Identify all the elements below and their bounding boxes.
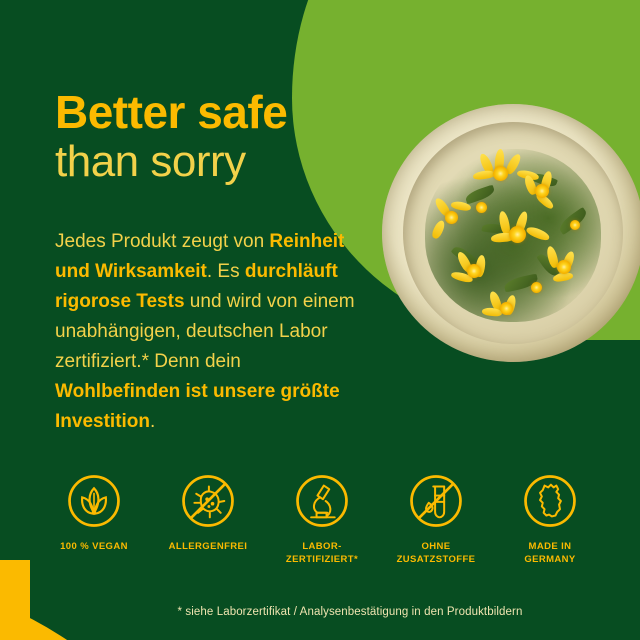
headline-line-1: Better safe: [55, 88, 385, 137]
bowl-interior: [403, 122, 623, 344]
badge-label: OHNE ZUSATZSTOFFE: [397, 540, 476, 566]
trust-badge-row: 100 % VEGAN ALLERGENFREI: [42, 472, 602, 566]
no-additives-icon: [407, 472, 465, 530]
badge-lab-certified[interactable]: LABOR- ZERTIFIZIERT*: [270, 472, 374, 566]
body-emphasis: Wohlbefinden ist unsere größte Investiti…: [55, 381, 340, 432]
bowl-shape: [382, 104, 640, 362]
footnote-text: * siehe Laborzertifikat / Analysenbestät…: [0, 606, 640, 618]
badge-label: LABOR- ZERTIFIZIERT*: [286, 540, 358, 566]
headline-line-2: than sorry: [55, 139, 385, 186]
promo-card: Better safe than sorry Jedes Produkt zeu…: [0, 0, 640, 640]
body-paragraph: Jedes Produkt zeugt von Reinheit und Wir…: [55, 227, 365, 437]
badge-no-additives[interactable]: OHNE ZUSATZSTOFFE: [384, 472, 488, 566]
body-text: .: [150, 411, 155, 432]
badge-vegan[interactable]: 100 % VEGAN: [42, 472, 146, 553]
microscope-icon: [293, 472, 351, 530]
yellow-corner-fill: [0, 560, 30, 640]
body-text: . Es: [207, 261, 245, 282]
body-text: Jedes Produkt zeugt von: [55, 231, 269, 252]
product-photo-bowl-of-flowers: [382, 104, 640, 362]
badge-made-in-germany[interactable]: MADE IN GERMANY: [498, 472, 602, 566]
badge-label: MADE IN GERMANY: [524, 540, 575, 566]
badge-allergen-free[interactable]: ALLERGENFREI: [156, 472, 260, 553]
leaves-icon: [65, 472, 123, 530]
page-title: Better safe than sorry: [55, 88, 385, 185]
badge-label: 100 % VEGAN: [60, 540, 128, 553]
badge-label: ALLERGENFREI: [169, 540, 248, 553]
germany-map-icon: [521, 472, 579, 530]
no-allergen-icon: [179, 472, 237, 530]
